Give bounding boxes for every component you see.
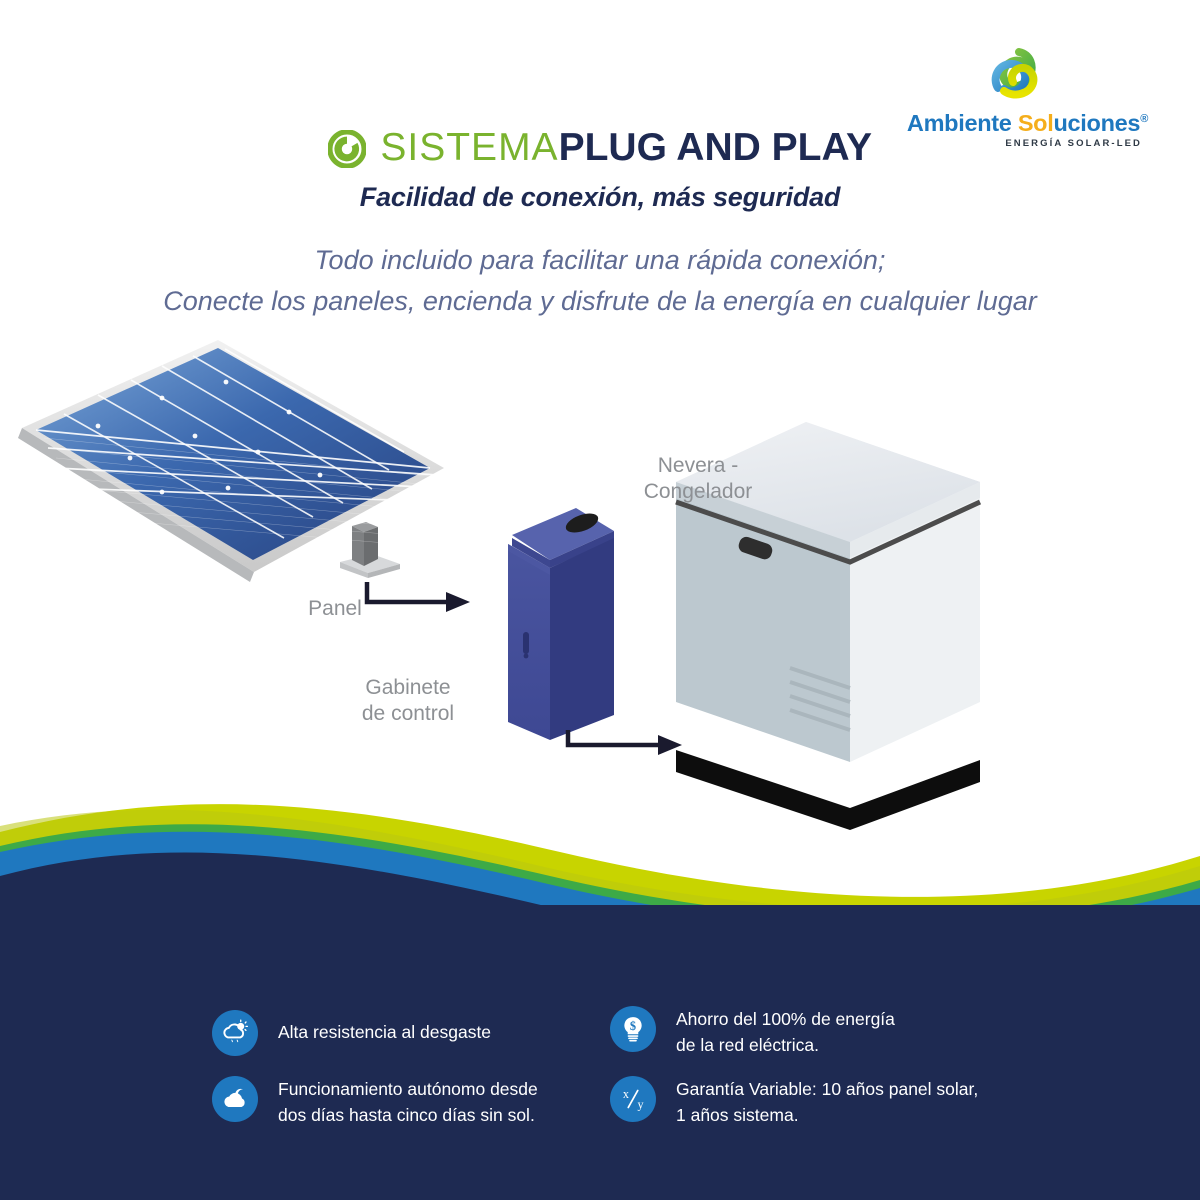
system-diagram: Panel Gabinete de control Nevera - Conge… xyxy=(0,330,1200,830)
label-freezer-line2: Congelador xyxy=(644,480,753,503)
power-play-icon xyxy=(328,130,366,168)
page-title-row: SISTEMAPLUG AND PLAY xyxy=(0,126,1200,170)
lead-line-1: Todo incluido para facilitar una rápida … xyxy=(0,240,1200,281)
arrow-panel-to-cabinet xyxy=(367,582,470,612)
lead-line-2: Conecte los paneles, encienda y disfrute… xyxy=(0,281,1200,322)
feature-item: x y Garantía Variable: 10 años panel sol… xyxy=(610,1076,978,1128)
page-title-bold: PLUG AND PLAY xyxy=(559,126,873,169)
feature-item: Alta resistencia al desgaste xyxy=(212,1010,491,1056)
infographic-page: Ambiente Soluciones® ENERGÍA SOLAR-LED S… xyxy=(0,0,1200,1200)
logo-registered-mark: ® xyxy=(1140,113,1148,125)
control-cabinet-illustration xyxy=(508,508,614,740)
page-title: SISTEMAPLUG AND PLAY xyxy=(380,126,872,170)
page-title-light: SISTEMA xyxy=(380,126,558,169)
trefoil-knot-icon xyxy=(988,44,1050,106)
cloud-sun-rain-icon xyxy=(212,1010,258,1056)
svg-text:x: x xyxy=(623,1087,629,1101)
cloud-moon-icon xyxy=(212,1076,258,1122)
feature-text: Ahorro del 100% de energía de la red elé… xyxy=(676,1006,895,1058)
svg-text:$: $ xyxy=(630,1019,636,1033)
svg-text:y: y xyxy=(637,1097,644,1111)
footer-panel xyxy=(0,905,1200,1200)
page-subtitle: Facilidad de conexión, más seguridad xyxy=(0,182,1200,213)
lightbulb-dollar-icon: $ xyxy=(610,1006,656,1052)
label-freezer-line1: Nevera - xyxy=(658,454,739,477)
label-cabinet-line1: Gabinete xyxy=(365,676,450,699)
arrow-cabinet-to-freezer xyxy=(568,730,682,755)
x-over-y-fraction-icon: x y xyxy=(610,1076,656,1122)
feature-text: Alta resistencia al desgaste xyxy=(278,1010,491,1045)
feature-item: $ Ahorro del 100% de energía de la red e… xyxy=(610,1006,895,1058)
feature-item: Funcionamiento autónomo desde dos días h… xyxy=(212,1076,538,1128)
feature-text: Garantía Variable: 10 años panel solar, … xyxy=(676,1076,978,1128)
solar-panel-illustration xyxy=(18,340,444,582)
label-cabinet-line2: de control xyxy=(362,702,454,725)
label-panel: Panel xyxy=(308,597,362,620)
feature-text: Funcionamiento autónomo desde dos días h… xyxy=(278,1076,538,1128)
page-lead-paragraph: Todo incluido para facilitar una rápida … xyxy=(0,240,1200,322)
